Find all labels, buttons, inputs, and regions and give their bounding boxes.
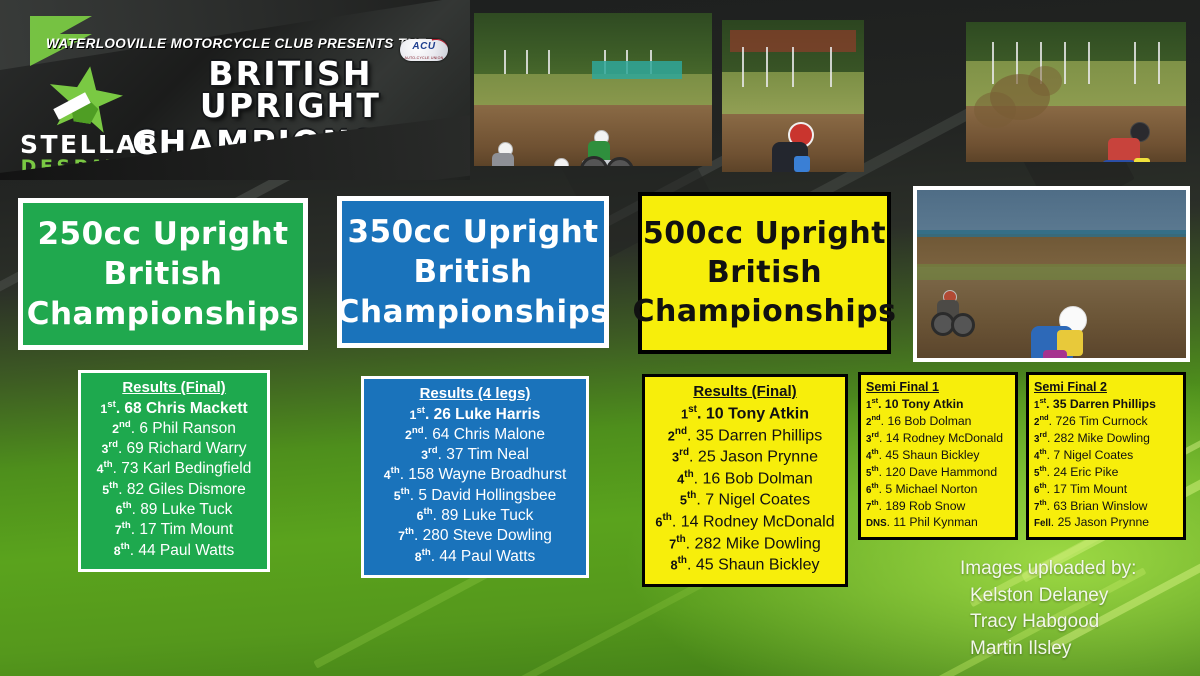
result-position-suffix: th — [1039, 481, 1046, 490]
result-rider: . 158 Wayne Broadhurst — [400, 467, 567, 484]
result-row: 2nd. 16 Bob Dolman — [866, 413, 1010, 430]
result-position-suffix: th — [871, 464, 878, 473]
credit-name: Martin Ilsley — [960, 636, 1190, 663]
result-position: DNS — [866, 518, 887, 529]
result-row: 1st. 10 Tony Atkin — [866, 396, 1010, 413]
result-position-suffix: th — [104, 459, 113, 470]
results-350cc-rows: 1st. 26 Luke Harris2nd. 64 Chris Malone3… — [370, 405, 580, 567]
result-position-suffix: th — [1039, 447, 1046, 456]
result-row: 2nd. 64 Chris Malone — [370, 425, 580, 445]
result-row: 6th. 5 Michael Norton — [866, 481, 1010, 498]
result-rider: . 73 Karl Bedingfield — [113, 461, 252, 478]
result-position-suffix: th — [678, 555, 687, 566]
result-rider: . 89 Luke Tuck — [132, 501, 233, 518]
result-position-suffix: st — [416, 405, 425, 416]
result-rider: . 189 Rob Snow — [879, 499, 966, 513]
page-title-line1: BRITISH UPRIGHT — [200, 54, 381, 125]
category-title-350cc: 350cc Upright British Championships — [337, 196, 609, 348]
semi-final-2-rows: 1st. 35 Darren Phillips2nd. 726 Tim Curn… — [1034, 396, 1178, 530]
result-position-suffix: rd — [679, 447, 689, 458]
result-rider: . 17 Tim Mount — [131, 521, 234, 538]
result-rider: . 25 Jason Prynne — [689, 448, 818, 465]
result-rider: . 280 Steve Dowling — [414, 527, 552, 544]
photo-pack-of-riders — [474, 13, 712, 166]
result-row: 2nd. 35 Darren Phillips — [651, 425, 839, 447]
results-500cc-rows: 1st. 10 Tony Atkin2nd. 35 Darren Phillip… — [651, 403, 839, 576]
result-row: 3rd. 282 Mike Dowling — [1034, 430, 1178, 447]
acu-logo-text: ACU — [400, 41, 448, 52]
result-position-suffix: th — [424, 506, 433, 517]
result-position-suffix: nd — [1039, 413, 1048, 422]
result-rider: . 10 Tony Atkin — [878, 397, 963, 411]
result-row: 3rd. 14 Rodney McDonald — [866, 430, 1010, 447]
category-250cc-line3: Championships — [27, 299, 300, 330]
result-position: 6 — [116, 503, 123, 517]
result-position: 8 — [670, 557, 677, 572]
result-rider: . 69 Richard Warry — [118, 440, 247, 457]
page-title: BRITISH UPRIGHT CHAMPIONSHIP — [118, 58, 463, 159]
result-position: 8 — [114, 544, 121, 558]
result-row: 8th. 45 Shaun Bickley — [651, 554, 839, 576]
result-position: 4 — [384, 469, 391, 483]
result-rider: . 24 Eric Pike — [1047, 465, 1119, 479]
result-rider: . 26 Luke Harris — [425, 406, 540, 423]
category-500cc-line3: Championships — [633, 297, 897, 327]
credit-name: Tracy Habgood — [960, 609, 1190, 636]
result-rider: . 82 Giles Dismore — [118, 481, 245, 498]
header-tagline: WATERLOOVILLE MOTORCYCLE CLUB PRESENTS T… — [46, 36, 386, 51]
result-position-suffix: th — [405, 526, 414, 537]
result-rider: . 44 Paul Watts — [130, 542, 235, 559]
result-rider: . 7 Nigel Coates — [696, 492, 810, 509]
result-rider: . 63 Brian Winslow — [1047, 499, 1148, 513]
result-position: Fell — [1034, 518, 1051, 529]
result-position: 5 — [680, 493, 687, 508]
category-250cc-line1: 250cc Upright — [37, 219, 288, 250]
result-row: 5th. 120 Dave Hammond — [866, 464, 1010, 481]
result-rider: . 11 Phil Kynman — [887, 515, 978, 529]
result-position-suffix: st — [688, 404, 697, 415]
result-rider: . 45 Shaun Bickley — [879, 448, 980, 462]
result-rider: . 5 David Hollingsbee — [410, 487, 556, 504]
result-rider: . 16 Bob Dolman — [694, 470, 813, 487]
result-position-suffix: nd — [412, 425, 424, 436]
result-position-suffix: th — [1039, 498, 1046, 507]
result-position: 4 — [97, 463, 104, 477]
result-row: Fell. 25 Jason Prynne — [1034, 515, 1178, 531]
result-position: 3 — [421, 448, 428, 462]
result-position-suffix: th — [871, 498, 878, 507]
result-row: 4th. 73 Karl Bedingfield — [87, 459, 261, 479]
result-position-suffix: rd — [428, 445, 438, 456]
result-row: 6th. 14 Rodney McDonald — [651, 511, 839, 533]
header-banner: WATERLOOVILLE MOTORCYCLE CLUB PRESENTS T… — [0, 0, 470, 180]
result-row: 8th. 44 Paul Watts — [87, 541, 261, 561]
result-position: 6 — [417, 509, 424, 523]
result-row: 4th. 45 Shaun Bickley — [866, 447, 1010, 464]
result-rider: . 44 Paul Watts — [431, 548, 536, 565]
credits-heading: Images uploaded by: — [960, 556, 1190, 583]
photo-rider-number-2 — [722, 20, 864, 172]
result-row: 1st. 68 Chris Mackett — [87, 399, 261, 419]
result-row: 6th. 17 Tim Mount — [1034, 481, 1178, 498]
results-panel-250cc: Results (Final) 1st. 68 Chris Mackett2nd… — [78, 370, 270, 572]
result-rider: . 14 Rodney McDonald — [879, 431, 1003, 445]
category-title-500cc: 500cc Upright British Championships — [638, 192, 891, 354]
result-row: 3rd. 37 Tim Neal — [370, 445, 580, 465]
page-title-line2: CHAMPIONSHIP — [118, 127, 463, 159]
result-row: 3rd. 69 Richard Warry — [87, 439, 261, 459]
result-position-suffix: th — [1039, 464, 1046, 473]
result-row: 7th. 282 Mike Dowling — [651, 533, 839, 555]
category-350cc-line3: Championships — [337, 297, 610, 328]
results-panel-500cc: Results (Final) 1st. 10 Tony Atkin2nd. 3… — [642, 374, 848, 587]
poster-canvas: WATERLOOVILLE MOTORCYCLE CLUB PRESENTS T… — [0, 0, 1200, 676]
semi-final-1-rows: 1st. 10 Tony Atkin2nd. 16 Bob Dolman3rd.… — [866, 396, 1010, 530]
result-row: 2nd. 6 Phil Ranson — [87, 419, 261, 439]
result-row: 1st. 26 Luke Harris — [370, 405, 580, 425]
result-position-suffix: st — [107, 399, 116, 410]
result-rider: . 7 Nigel Coates — [1047, 448, 1134, 462]
result-row: 8th. 44 Paul Watts — [370, 547, 580, 567]
result-position-suffix: nd — [675, 426, 687, 437]
semi-final-2-title: Semi Final 2 — [1034, 379, 1178, 395]
results-350cc-title: Results (4 legs) — [370, 384, 580, 404]
result-row: 7th. 17 Tim Mount — [87, 520, 261, 540]
result-position-suffix: th — [422, 547, 431, 558]
category-500cc-line1: 500cc Upright — [643, 219, 886, 249]
result-position-suffix: rd — [1039, 430, 1047, 439]
result-position-suffix: th — [871, 447, 878, 456]
results-250cc-rows: 1st. 68 Chris Mackett2nd. 6 Phil Ranson3… — [87, 399, 261, 561]
result-position: 6 — [655, 514, 662, 529]
result-position-suffix: th — [687, 490, 696, 501]
category-250cc-line2: British — [103, 259, 222, 290]
sponsor-subname: DESPATCH — [16, 156, 164, 178]
results-panel-semi-final-1: Semi Final 1 1st. 10 Tony Atkin2nd. 16 B… — [858, 372, 1018, 540]
result-position: 2 — [668, 428, 675, 443]
result-position-suffix: th — [121, 541, 130, 552]
result-rider: . 68 Chris Mackett — [116, 400, 248, 417]
result-row: 5th. 7 Nigel Coates — [651, 489, 839, 511]
photo-rider-roost — [966, 22, 1186, 162]
result-position-suffix: th — [122, 520, 131, 531]
category-title-250cc: 250cc Upright British Championships — [18, 198, 308, 350]
result-position-suffix: nd — [871, 413, 880, 422]
result-position-suffix: th — [109, 480, 118, 491]
result-position-suffix: th — [401, 486, 410, 497]
photo-rider-number-10 — [913, 186, 1190, 362]
result-rider: . 120 Dave Hammond — [879, 465, 998, 479]
result-position-suffix: th — [123, 500, 132, 511]
results-500cc-title: Results (Final) — [651, 382, 839, 402]
results-250cc-title: Results (Final) — [87, 378, 261, 398]
result-rider: . 45 Shaun Bickley — [687, 556, 820, 573]
result-row: 7th. 63 Brian Winslow — [1034, 498, 1178, 515]
result-position: 5 — [394, 489, 401, 503]
result-rider: . 37 Tim Neal — [438, 446, 529, 463]
result-row: 1st. 35 Darren Phillips — [1034, 396, 1178, 413]
result-row: 3rd. 25 Jason Prynne — [651, 446, 839, 468]
result-rider: . 17 Tim Mount — [1047, 482, 1128, 496]
result-row: DNS. 11 Phil Kynman — [866, 515, 1010, 531]
result-position-suffix: rd — [871, 430, 879, 439]
result-row: 6th. 89 Luke Tuck — [370, 506, 580, 526]
result-rider: . 14 Rodney McDonald — [672, 513, 835, 530]
result-rider: . 5 Michael Norton — [879, 482, 978, 496]
result-position-suffix: th — [676, 534, 685, 545]
result-row: 4th. 158 Wayne Broadhurst — [370, 465, 580, 485]
result-rider: . 6 Phil Ranson — [131, 420, 236, 437]
result-row: 2nd. 726 Tim Curnock — [1034, 413, 1178, 430]
result-row: 7th. 280 Steve Dowling — [370, 526, 580, 546]
image-credits: Images uploaded by: Kelston Delaney Trac… — [960, 556, 1190, 662]
result-row: 1st. 10 Tony Atkin — [651, 403, 839, 425]
result-row: 5th. 82 Giles Dismore — [87, 480, 261, 500]
credit-name: Kelston Delaney — [960, 583, 1190, 610]
sponsor-name: STELLAR — [16, 130, 164, 159]
result-position: 8 — [415, 550, 422, 564]
result-rider: . 35 Darren Phillips — [687, 427, 822, 444]
result-row: 5th. 5 David Hollingsbee — [370, 486, 580, 506]
results-panel-350cc: Results (4 legs) 1st. 26 Luke Harris2nd.… — [361, 376, 589, 578]
result-rider: . 726 Tim Curnock — [1049, 414, 1148, 428]
result-row: 6th. 89 Luke Tuck — [87, 500, 261, 520]
result-position-suffix: nd — [119, 419, 131, 430]
result-position-suffix: th — [663, 512, 672, 523]
result-position-suffix: th — [684, 469, 693, 480]
semi-final-1-title: Semi Final 1 — [866, 379, 1010, 395]
result-rider: . 10 Tony Atkin — [697, 405, 809, 422]
category-350cc-line1: 350cc Upright — [347, 217, 598, 248]
category-350cc-line2: British — [413, 257, 532, 288]
result-position-suffix: th — [871, 481, 878, 490]
result-rider: . 64 Chris Malone — [424, 426, 545, 443]
result-position: 2 — [405, 428, 412, 442]
result-row: 4th. 16 Bob Dolman — [651, 468, 839, 490]
result-rider: . 25 Jason Prynne — [1051, 515, 1149, 529]
result-position: 7 — [398, 529, 405, 543]
result-position: 7 — [115, 523, 122, 537]
result-row: 4th. 7 Nigel Coates — [1034, 447, 1178, 464]
stellar-despatch-logo: STELLAR DESPATCH — [14, 68, 164, 173]
result-position-suffix: rd — [108, 439, 118, 450]
result-rider: . 282 Mike Dowling — [686, 535, 821, 552]
result-row: 7th. 189 Rob Snow — [866, 498, 1010, 515]
result-position-suffix: th — [391, 465, 400, 476]
results-panel-semi-final-2: Semi Final 2 1st. 35 Darren Phillips2nd.… — [1026, 372, 1186, 540]
result-rider: . 16 Bob Dolman — [881, 414, 972, 428]
result-rider: . 89 Luke Tuck — [433, 507, 534, 524]
result-rider: . 282 Mike Dowling — [1047, 431, 1150, 445]
result-row: 5th. 24 Eric Pike — [1034, 464, 1178, 481]
result-rider: . 35 Darren Phillips — [1046, 397, 1156, 411]
category-500cc-line2: British — [707, 258, 822, 288]
result-position: 2 — [112, 422, 119, 436]
